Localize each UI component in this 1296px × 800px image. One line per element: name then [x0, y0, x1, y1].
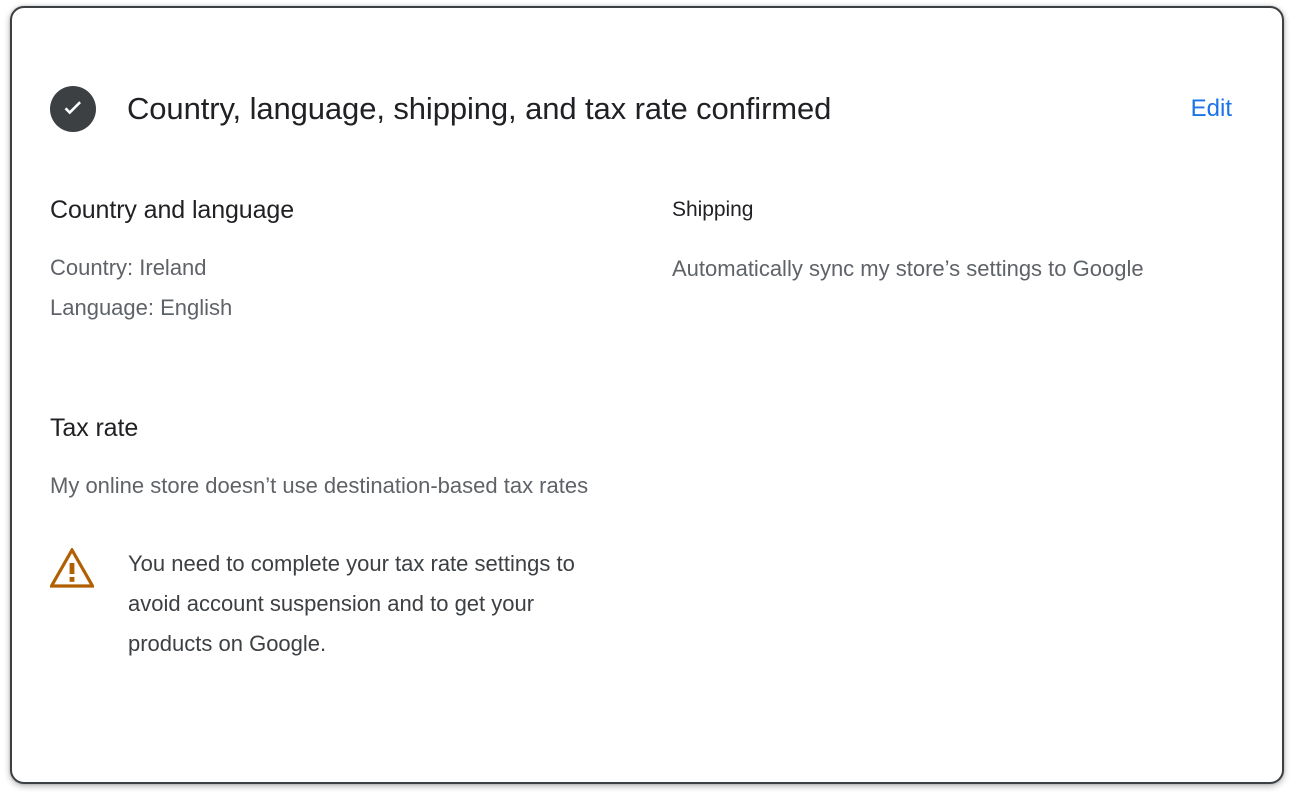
- shipping-heading: Shipping: [672, 196, 1252, 224]
- warning-triangle-icon: [50, 544, 96, 588]
- tax-rate-heading: Tax rate: [50, 412, 1252, 444]
- country-value: Country: Ireland: [50, 248, 672, 288]
- shipping-description: Automatically sync my store’s settings t…: [672, 248, 1212, 289]
- top-columns-row: Country and language Country: Ireland La…: [50, 194, 1252, 328]
- country-language-section: Country and language Country: Ireland La…: [50, 194, 672, 328]
- country-language-heading: Country and language: [50, 194, 672, 226]
- tax-rate-warning: You need to complete your tax rate setti…: [50, 544, 1252, 664]
- check-circle-icon: [50, 86, 96, 132]
- tax-rate-section: Tax rate My online store doesn’t use des…: [50, 412, 1252, 664]
- card-body: Country and language Country: Ireland La…: [50, 194, 1252, 664]
- tax-rate-description: My online store doesn’t use destination-…: [50, 466, 610, 506]
- screen-root: Country, language, shipping, and tax rat…: [0, 0, 1296, 800]
- card-header: Country, language, shipping, and tax rat…: [12, 8, 1282, 178]
- card-header-inner: Country, language, shipping, and tax rat…: [50, 86, 1244, 132]
- page-title: Country, language, shipping, and tax rat…: [127, 89, 831, 129]
- language-value: Language: English: [50, 288, 672, 328]
- tax-rate-warning-text: You need to complete your tax rate setti…: [128, 544, 618, 664]
- edit-link[interactable]: Edit: [1191, 94, 1244, 124]
- confirmation-card: Country, language, shipping, and tax rat…: [10, 6, 1284, 784]
- shipping-section: Shipping Automatically sync my store’s s…: [672, 194, 1252, 289]
